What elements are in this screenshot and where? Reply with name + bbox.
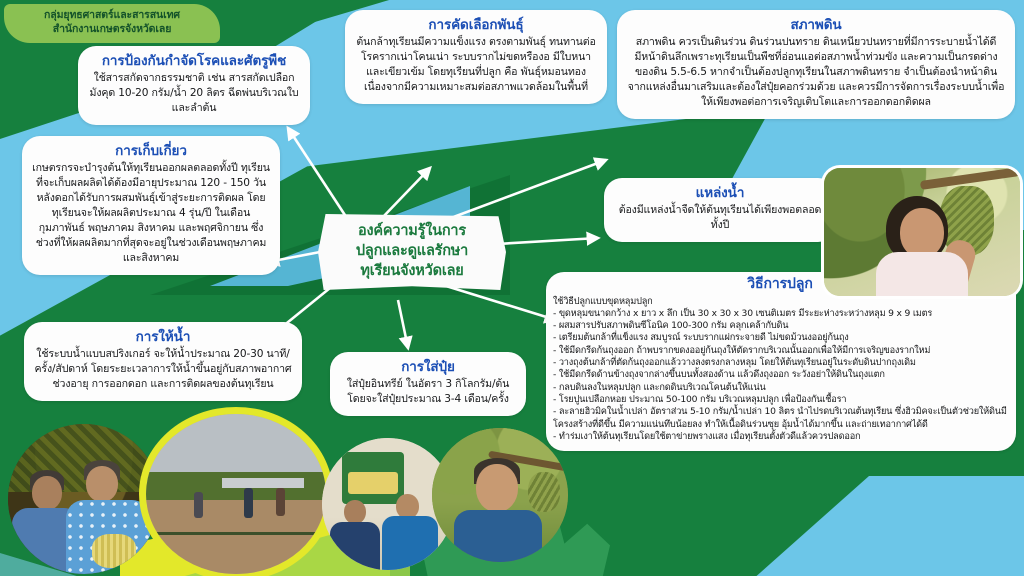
planting-step-5: - วางถุงต้นกล้าที่ตัดก้นถุงออกแล้ววางลงต… <box>553 357 1007 369</box>
card-variety-body: ต้นกล้าทุเรียนมีความแข็งแรง ตรงตามพันธุ์… <box>355 35 597 95</box>
page-title-line-2: ปลูกและดูแลรักษา <box>324 241 500 261</box>
planting-step-8: - โรยปูนเปลือกหอย ประมาณ 50-100 กรัม บริ… <box>553 394 1007 406</box>
card-water-source-body: ต้องมีแหล่งน้ำจืดให้ต้นทุเรียนได้เพียงพอ… <box>614 203 826 233</box>
card-harvest-title: การเก็บเกี่ยว <box>32 143 270 160</box>
photo-two-farmers-with-fruit <box>8 424 160 574</box>
card-soil-body: สภาพดิน ควรเป็นดินร่วน ดินร่วนปนทราย ดิน… <box>627 35 1005 110</box>
card-soil-condition: สภาพดิน สภาพดิน ควรเป็นดินร่วน ดินร่วนปน… <box>617 10 1015 119</box>
page-title-line-1: องค์ความรู้ในการ <box>324 221 500 241</box>
card-fertilizing: การใส่ปุ๋ย ใส่ปุ๋ยอินทรีย์ ในอัตรา 3 กิโ… <box>330 352 526 416</box>
page-title: องค์ความรู้ในการ ปลูกและดูแลรักษา ทุเรีย… <box>318 214 506 290</box>
card-soil-title: สภาพดิน <box>627 17 1005 34</box>
planting-step-6: - ใช้มีดกรีดด้านข้างถุงจากล่างขึ้นบนทั้ง… <box>553 369 1007 381</box>
page-title-line-3: ทุเรียนจังหวัดเลย <box>324 261 500 281</box>
organization-line-1: กลุ่มยุทธศาสตร์และสารสนเทศ <box>12 9 212 23</box>
planting-step-1: - ขุดหลุมขนาดกว้าง x ยาว x ลึก เป็น 30 x… <box>553 308 1007 320</box>
card-irrigation-body: ใช้ระบบน้ำแบบสปริงเกอร์ จะให้น้ำประมาณ 2… <box>34 347 292 392</box>
card-irrigation-title: การให้น้ำ <box>34 329 292 346</box>
card-harvesting: การเก็บเกี่ยว เกษตรกรจะบำรุงต้นให้ทุเรีย… <box>22 136 280 275</box>
card-pest-disease-control: การป้องกันกำจัดโรคและศัตรูพืช ใช้สารสกัด… <box>78 46 310 125</box>
photo-man-under-durian-tree <box>432 428 568 562</box>
card-fertilizer-title: การใส่ปุ๋ย <box>340 359 516 376</box>
card-water-source-title: แหล่งน้ำ <box>614 185 826 202</box>
card-planting-method: วิธีการปลูก ใช้วิธีปลูกแบบขุดหลุมปลูก - … <box>546 272 1016 451</box>
card-pest-title: การป้องกันกำจัดโรคและศัตรูพืช <box>88 53 300 70</box>
photo-girl-holding-durian <box>824 168 1020 296</box>
card-pest-body: ใช้สารสกัดจากธรรมชาติ เช่น สารสกัดเปลือก… <box>88 71 300 116</box>
planting-step-3: - เตรียมต้นกล้าที่แข็งแรง สมบูรณ์ ระบบรา… <box>553 332 1007 344</box>
card-variety-selection: การคัดเลือกพันธุ์ ต้นกล้าทุเรียนมีความแข… <box>345 10 607 104</box>
planting-step-10: - ทำร่มเงาให้ต้นทุเรียนโดยใช้ตาข่ายพรางแ… <box>553 431 1007 443</box>
card-harvest-body: เกษตรกรจะบำรุงต้นให้ทุเรียนออกผลตลอดทั้ง… <box>32 161 270 266</box>
planting-step-2: - ผสมสารปรับสภาพดินซีโอนิค 100-300 กรัม … <box>553 320 1007 332</box>
organization-line-2: สำนักงานเกษตรจังหวัดเลย <box>12 23 212 37</box>
planting-step-4: - ใช้มีดกรีดก้นถุงออก ถ้าพบรากขดงออยู่ก้… <box>553 345 1007 357</box>
organization-badge: กลุ่มยุทธศาสตร์และสารสนเทศ สำนักงานเกษตร… <box>4 4 220 43</box>
photo-field-survey-group <box>146 414 326 574</box>
planting-step-9: - ละลายฮิวมิคในน้ำเปล่า อัตราส่วน 5-10 ก… <box>553 406 1007 431</box>
infographic-canvas: กลุ่มยุทธศาสตร์และสารสนเทศ สำนักงานเกษตร… <box>0 0 1024 576</box>
card-irrigation: การให้น้ำ ใช้ระบบน้ำแบบสปริงเกอร์ จะให้น… <box>24 322 302 401</box>
card-water-source: แหล่งน้ำ ต้องมีแหล่งน้ำจืดให้ต้นทุเรียนไ… <box>604 178 836 242</box>
card-fertilizer-body: ใส่ปุ๋ยอินทรีย์ ในอัตรา 3 กิโลกรัม/ต้น โ… <box>340 377 516 407</box>
planting-steps-list: ใช้วิธีปลูกแบบขุดหลุมปลูก - ขุดหลุมขนาดก… <box>553 296 1007 444</box>
planting-step-7: - กลบดินลงในหลุมปลูก และกดดินบริเวณโคนต้… <box>553 382 1007 394</box>
planting-step-0: ใช้วิธีปลูกแบบขุดหลุมปลูก <box>553 296 1007 308</box>
card-variety-title: การคัดเลือกพันธุ์ <box>355 17 597 34</box>
